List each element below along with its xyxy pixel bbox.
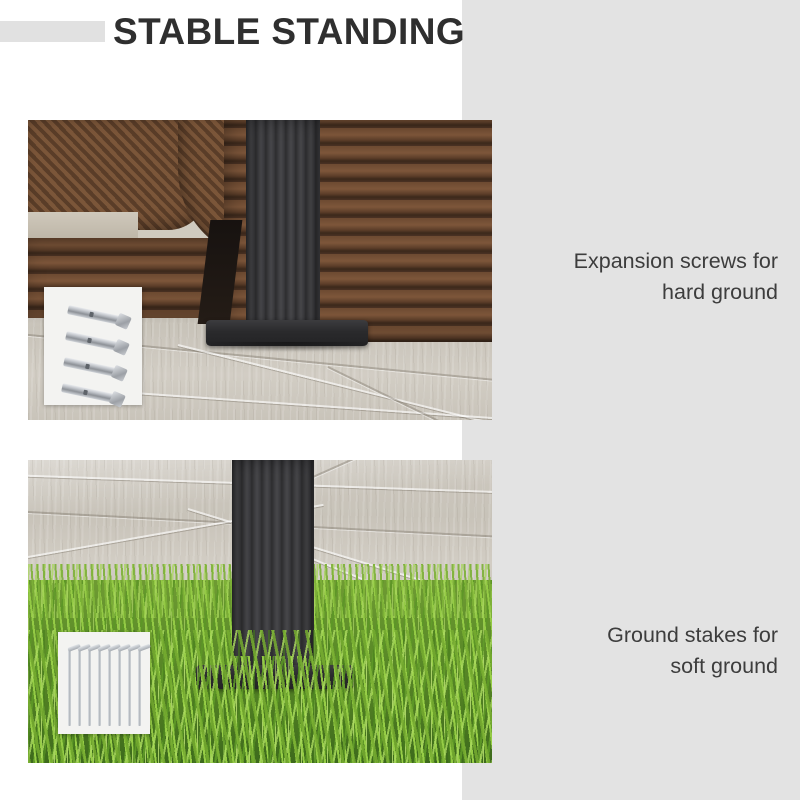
page-title: STABLE STANDING — [113, 10, 465, 54]
base-plate-shadow — [204, 342, 374, 352]
gazebo-post-hard — [246, 120, 320, 334]
expansion-screw — [67, 305, 120, 325]
ground-stake — [98, 650, 101, 726]
ground-stake — [128, 650, 131, 726]
ground-stake — [68, 650, 71, 726]
ground-stake — [108, 650, 111, 726]
ground-stakes-card — [58, 632, 150, 734]
caption-hard-line-1: Expansion screws for — [482, 246, 778, 277]
caption-soft-line-1: Ground stakes for — [482, 620, 778, 651]
caption-hard-ground: Expansion screws for hard ground — [482, 246, 778, 308]
product-feature-slide: STABLE STANDING — [0, 0, 800, 800]
ground-stake — [118, 650, 121, 726]
caption-hard-line-2: hard ground — [482, 277, 778, 308]
ground-stake — [138, 650, 141, 726]
expansion-screw — [63, 357, 116, 377]
title-accent-bar — [0, 21, 105, 42]
expansion-screw — [61, 383, 114, 403]
caption-soft-line-2: soft ground — [482, 651, 778, 682]
caption-soft-ground: Ground stakes for soft ground — [482, 620, 778, 682]
photo-soft-ground — [28, 460, 492, 763]
photo-hard-ground — [28, 120, 492, 420]
ground-stake — [78, 650, 81, 726]
expansion-screw — [65, 331, 118, 351]
ground-stake — [88, 650, 91, 726]
expansion-screws-card — [44, 287, 142, 405]
